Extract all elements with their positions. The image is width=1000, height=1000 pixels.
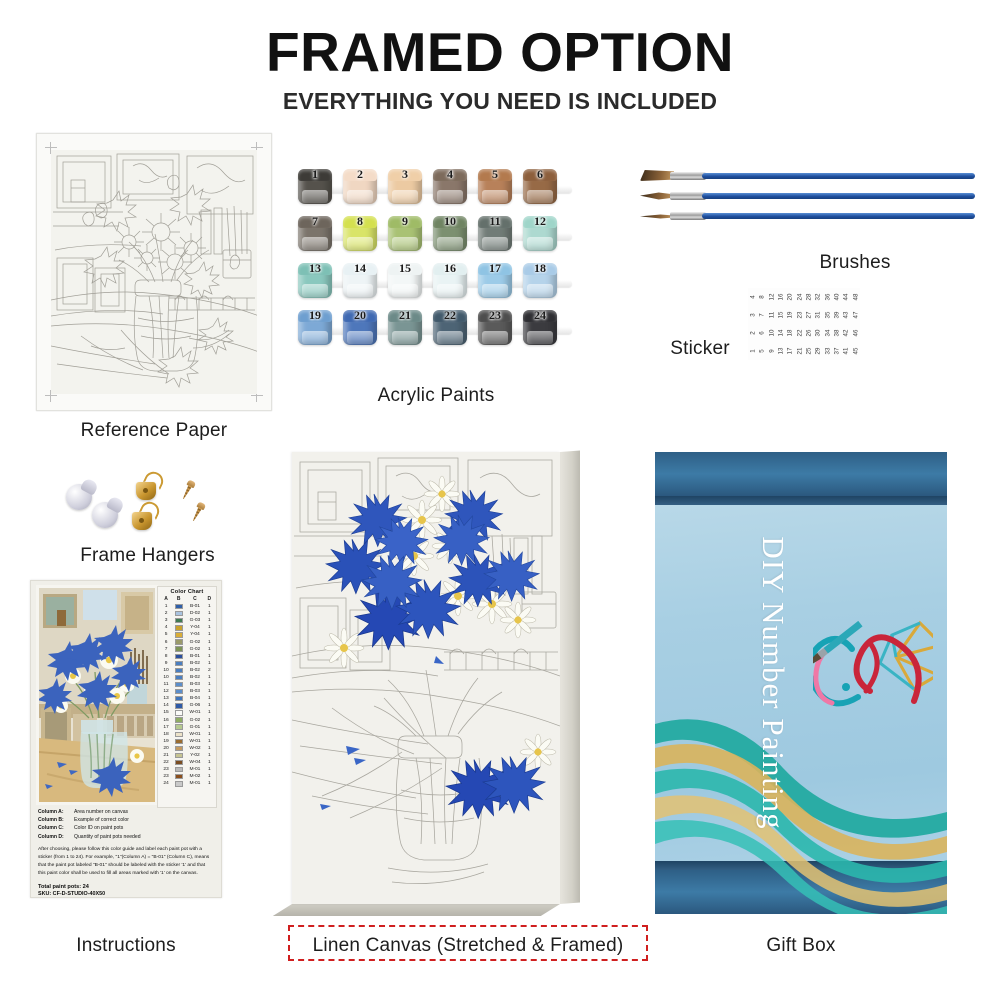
acrylic-paints-group: 123456789101112131415161718192021222324: [296, 166, 576, 356]
color-chart-row: 7G-021: [160, 646, 214, 653]
paint-pot-number: 6: [521, 167, 559, 182]
paint-pot-number: 18: [521, 261, 559, 276]
color-chart-area-number: 20: [160, 746, 172, 751]
legend-row: Column A:Area number on canvas: [38, 808, 214, 816]
caption-instructions: Instructions: [30, 935, 222, 957]
color-chart-swatch: [172, 668, 185, 673]
paint-pot[interactable]: 14: [341, 260, 379, 300]
color-chart-quantity: 1: [205, 753, 214, 758]
caption-acrylic-paints: Acrylic Paints: [296, 385, 576, 407]
legend-value: Quantity of paint pots needed: [74, 833, 214, 841]
color-chart-quantity: 1: [205, 689, 214, 694]
brush-ferrule: [670, 212, 706, 220]
brush-tip-icon: [640, 170, 674, 181]
color-chart-header: A B C D: [160, 595, 214, 603]
paint-pot[interactable]: 15: [386, 260, 424, 300]
color-chart-area-number: 23: [160, 767, 172, 772]
caption-brushes: Brushes: [760, 252, 950, 274]
color-chart-area-number: 19: [160, 739, 172, 744]
linen-canvas: [292, 452, 582, 914]
color-chart-area-number: 9: [160, 661, 172, 666]
sticker-number: 45: [846, 346, 864, 355]
canvas-artwork-svg: [292, 452, 560, 904]
paint-pot[interactable]: 9: [386, 213, 424, 253]
color-chart-color-id: G-02: [185, 640, 205, 645]
color-chart-row: 10B-022: [160, 667, 214, 674]
color-chart-swatch: [172, 675, 185, 680]
color-chart-row: 23M-011: [160, 766, 214, 773]
color-chart-quantity: 1: [205, 718, 214, 723]
paint-pot-number: 22: [431, 308, 469, 323]
color-chart-color-id: G-03: [185, 618, 205, 623]
paint-pot[interactable]: 19: [296, 307, 334, 347]
color-chart-quantity: 1: [205, 640, 214, 645]
color-chart-quantity: 1: [205, 682, 214, 687]
caption-sticker: Sticker: [650, 338, 750, 360]
color-chart-swatch: [172, 717, 185, 722]
paint-pot-row: 789101112: [296, 213, 576, 257]
color-chart-row: 15W-011: [160, 709, 214, 716]
color-chart-color-id: M-02: [185, 774, 205, 779]
total-paint-pots: Total paint pots: 24: [38, 884, 214, 890]
color-chart-swatch: [172, 646, 185, 651]
color-chart-area-number: 12: [160, 689, 172, 694]
color-chart-row: 6G-021: [160, 638, 214, 645]
color-chart-color-id: Y-04: [185, 632, 205, 637]
color-chart-swatch: [172, 746, 185, 751]
paint-pot[interactable]: 6: [521, 166, 559, 206]
color-chart-quantity: 1: [205, 675, 214, 680]
color-chart-area-number: 7: [160, 647, 172, 652]
color-chart-color-id: W-01: [185, 739, 205, 744]
paint-pot-number: 12: [521, 214, 559, 229]
col-head-b: B: [172, 596, 185, 602]
color-chart-quantity: 1: [205, 760, 214, 765]
color-chart-quantity: 1: [205, 611, 214, 616]
color-chart-color-id: Y-04: [185, 625, 205, 630]
color-chart-swatch: [172, 654, 185, 659]
color-chart-row: 22W-041: [160, 759, 214, 766]
paint-pot[interactable]: 4: [431, 166, 469, 206]
paint-pot[interactable]: 20: [341, 307, 379, 347]
legend-row: Column C:Color ID on paint pots: [38, 824, 214, 832]
color-chart-quantity: 1: [205, 732, 214, 737]
color-chart-color-id: G-06: [185, 703, 205, 708]
paint-pot[interactable]: 8: [341, 213, 379, 253]
brush-tip-icon: [640, 192, 674, 200]
color-chart-area-number: 10: [160, 668, 172, 673]
paint-pot-number: 4: [431, 167, 469, 182]
paint-pot[interactable]: 7: [296, 213, 334, 253]
legend-value: Example of correct color: [74, 816, 214, 824]
color-chart-quantity: 1: [205, 703, 214, 708]
color-chart-swatch: [172, 632, 185, 637]
color-chart-row: 4Y-041: [160, 624, 214, 631]
col-head-c: C: [185, 596, 205, 602]
color-chart-row: 16G-021: [160, 717, 214, 724]
instructions-sheet: Color Chart A B C D 1B-0112D-0213G-0314Y…: [30, 580, 222, 898]
color-chart-area-number: 21: [160, 753, 172, 758]
sticker-number: 48: [846, 292, 864, 301]
color-chart-row: 13B-041: [160, 695, 214, 702]
caption-frame-hangers: Frame Hangers: [40, 545, 255, 567]
color-chart-row: 18W-011: [160, 731, 214, 738]
paint-pot-number: 21: [386, 308, 424, 323]
legend-value: Area number on canvas: [74, 808, 214, 816]
color-chart-area-number: 5: [160, 632, 172, 637]
color-chart-color-id: B-03: [185, 682, 205, 687]
paint-pot[interactable]: 21: [386, 307, 424, 347]
color-chart-swatch: [172, 703, 185, 708]
color-chart-swatch: [172, 724, 185, 729]
color-chart-row: 12B-031: [160, 688, 214, 695]
color-chart-quantity: 1: [205, 618, 214, 623]
color-chart-color-id: B-04: [185, 696, 205, 701]
paint-pot-number: 3: [386, 167, 424, 182]
color-chart-body: 1B-0112D-0213G-0314Y-0415Y-0416G-0217G-0…: [160, 603, 214, 787]
color-chart-area-number: 11: [160, 682, 172, 687]
color-chart-swatch: [172, 732, 185, 737]
brush-ferrule: [670, 172, 706, 180]
color-chart-color-id: W-04: [185, 760, 205, 765]
caption-linen-canvas: Linen Canvas (Stretched & Framed): [288, 935, 648, 957]
paint-pot-number: 13: [296, 261, 334, 276]
color-chart-quantity: 1: [205, 661, 214, 666]
sticker-number: 46: [846, 328, 864, 337]
color-chart-area-number: 2: [160, 611, 172, 616]
brush-handle: [702, 213, 975, 219]
paint-pot[interactable]: 10: [431, 213, 469, 253]
color-chart-swatch: [172, 618, 185, 623]
paint-pot-number: 15: [386, 261, 424, 276]
brush-flat: [640, 168, 975, 184]
paint-pot[interactable]: 16: [431, 260, 469, 300]
paint-pot-number: 5: [476, 167, 514, 182]
color-chart-area-number: 16: [160, 718, 172, 723]
caption-gift-box: Gift Box: [655, 935, 947, 957]
color-chart: Color Chart A B C D 1B-0112D-0213G-0314Y…: [157, 586, 217, 808]
color-chart-quantity: 1: [205, 767, 214, 772]
color-chart-color-id: G-02: [185, 718, 205, 723]
color-chart-row: 2D-021: [160, 610, 214, 617]
paint-pot-number: 7: [296, 214, 334, 229]
color-chart-row: 19W-011: [160, 738, 214, 745]
color-chart-color-id: B-02: [185, 675, 205, 680]
color-chart-swatch: [172, 611, 185, 616]
color-chart-area-number: 13: [160, 696, 172, 701]
color-chart-row: 9B-021: [160, 660, 214, 667]
color-chart-area-number: 23: [160, 774, 172, 779]
color-chart-row: 20W-021: [160, 745, 214, 752]
color-chart-swatch: [172, 753, 185, 758]
color-chart-quantity: 1: [205, 632, 214, 637]
frame-hangers-group: [62, 468, 232, 540]
color-chart-quantity: 1: [205, 647, 214, 652]
brush-liner: [640, 208, 975, 224]
color-chart-area-number: 22: [160, 760, 172, 765]
paint-pot-number: 24: [521, 308, 559, 323]
paint-pot[interactable]: 11: [476, 213, 514, 253]
brush-round: [640, 188, 975, 204]
color-chart-color-id: B-03: [185, 689, 205, 694]
color-chart-row: 21Y-021: [160, 752, 214, 759]
gift-box: DIY Number Painting: [655, 452, 947, 914]
legend-key: Column B:: [38, 816, 74, 824]
sku-label: SKU: CF-D-STUDIO-40X50: [38, 891, 214, 897]
color-chart-color-id: B-01: [185, 604, 205, 609]
brush-handle: [702, 193, 975, 199]
color-chart-quantity: 1: [205, 604, 214, 609]
brush-tip-icon: [640, 213, 674, 220]
paint-pot-row: 123456: [296, 166, 576, 210]
reference-paper: [36, 133, 272, 411]
color-chart-swatch: [172, 682, 185, 687]
color-chart-color-id: M-01: [185, 767, 205, 772]
framed-option-infographic: FRAMED OPTION EVERYTHING YOU NEED IS INC…: [0, 0, 1000, 1000]
color-chart-swatch: [172, 689, 185, 694]
canvas-bottom-edge: [273, 904, 560, 916]
paint-pot-row: 131415161718: [296, 260, 576, 304]
color-chart-area-number: 4: [160, 625, 172, 630]
canvas-side-edge: [560, 451, 580, 904]
color-chart-swatch: [172, 639, 185, 644]
color-chart-quantity: 2: [205, 668, 214, 673]
color-chart-area-number: 17: [160, 725, 172, 730]
legend-key: Column A:: [38, 808, 74, 816]
color-chart-area-number: 18: [160, 732, 172, 737]
color-chart-area-number: 24: [160, 781, 172, 786]
color-chart-area-number: 15: [160, 710, 172, 715]
color-chart-area-number: 14: [160, 703, 172, 708]
color-chart-quantity: 1: [205, 696, 214, 701]
brush-handle: [702, 173, 975, 179]
color-chart-quantity: 1: [205, 774, 214, 779]
instructions-paragraph: After choosing, please follow this color…: [38, 846, 214, 879]
sticker-sheet: 4812162024283236404448371115192327313539…: [748, 288, 860, 360]
canvas-face: [292, 452, 560, 904]
reference-line-art: [51, 150, 257, 394]
color-chart-row: 8B-011: [160, 653, 214, 660]
color-chart-color-id: B-02: [185, 661, 205, 666]
sticker-number: 47: [846, 310, 864, 319]
caption-reference-paper: Reference Paper: [36, 420, 272, 442]
col-head-a: A: [160, 596, 172, 602]
color-chart-swatch: [172, 661, 185, 666]
paint-pot-number: 2: [341, 167, 379, 182]
gift-box-front: DIY Number Painting: [655, 452, 947, 914]
paint-pot[interactable]: 23: [476, 307, 514, 347]
color-chart-row: 23M-021: [160, 773, 214, 780]
legend-row: Column D:Quantity of paint pots needed: [38, 833, 214, 841]
color-chart-quantity: 1: [205, 746, 214, 751]
instructions-text: Column A:Area number on canvasColumn B:E…: [31, 805, 221, 897]
paint-pot-number: 10: [431, 214, 469, 229]
color-chart-color-id: Y-02: [185, 753, 205, 758]
paint-pot-number: 11: [476, 214, 514, 229]
paint-pot-row: 192021222324: [296, 307, 576, 351]
paint-pot[interactable]: 5: [476, 166, 514, 206]
color-chart-quantity: 1: [205, 625, 214, 630]
color-chart-quantity: 1: [205, 710, 214, 715]
page-subtitle: EVERYTHING YOU NEED IS INCLUDED: [0, 88, 1000, 115]
color-chart-swatch: [172, 767, 185, 772]
paint-pot-number: 20: [341, 308, 379, 323]
paint-pot[interactable]: 1: [296, 166, 334, 206]
color-chart-color-id: W-02: [185, 746, 205, 751]
color-chart-color-id: M-01: [185, 781, 205, 786]
color-chart-area-number: 8: [160, 654, 172, 659]
wall-hook-icon: [92, 498, 122, 528]
color-chart-quantity: 1: [205, 654, 214, 659]
paint-pot-number: 1: [296, 167, 334, 182]
color-chart-row: 10B-021: [160, 674, 214, 681]
color-chart-color-id: G-02: [185, 647, 205, 652]
lineart-svg: [51, 150, 257, 394]
color-chart-swatch: [172, 774, 185, 779]
paint-pot[interactable]: 2: [341, 166, 379, 206]
paint-pot[interactable]: 24: [521, 307, 559, 347]
color-chart-color-id: W-01: [185, 732, 205, 737]
color-chart-row: 1B-011: [160, 603, 214, 610]
d-ring-hanger-icon: [132, 504, 162, 530]
column-legend: Column A:Area number on canvasColumn B:E…: [38, 808, 214, 841]
color-chart-row: 5Y-041: [160, 631, 214, 638]
paint-pot[interactable]: 22: [431, 307, 469, 347]
legend-value: Color ID on paint pots: [74, 824, 214, 832]
color-chart-quantity: 1: [205, 725, 214, 730]
color-chart-color-id: W-01: [185, 710, 205, 715]
color-chart-color-id: B-02: [185, 668, 205, 673]
color-chart-swatch: [172, 710, 185, 715]
paint-pot[interactable]: 13: [296, 260, 334, 300]
color-chart-swatch: [172, 781, 185, 786]
page-title: FRAMED OPTION: [0, 24, 1000, 82]
color-chart-area-number: 3: [160, 618, 172, 623]
paint-pot-number: 9: [386, 214, 424, 229]
d-ring-hanger-icon: [136, 474, 166, 500]
color-chart-area-number: 10: [160, 675, 172, 680]
color-chart-row: 24M-011: [160, 780, 214, 787]
color-chart-row: 14G-061: [160, 702, 214, 709]
color-chart-color-id: G-01: [185, 725, 205, 730]
color-chart-swatch: [172, 604, 185, 609]
color-chart-swatch: [172, 739, 185, 744]
paint-pot-number: 14: [341, 261, 379, 276]
color-chart-swatch: [172, 696, 185, 701]
col-head-d: D: [205, 596, 214, 602]
legend-key: Column D:: [38, 833, 74, 841]
color-chart-color-id: D-02: [185, 611, 205, 616]
paint-pot-number: 16: [431, 261, 469, 276]
color-chart-swatch: [172, 760, 185, 765]
brush-ferrule: [670, 192, 706, 200]
color-chart-quantity: 1: [205, 739, 214, 744]
painting-thumb-svg: [39, 588, 155, 802]
brand-logo-icon: [813, 580, 933, 750]
color-chart-row: 11B-031: [160, 681, 214, 688]
color-chart-swatch: [172, 625, 185, 630]
paint-pot[interactable]: 18: [521, 260, 559, 300]
screw-icon: [180, 479, 196, 500]
color-chart-area-number: 1: [160, 604, 172, 609]
paint-pot-number: 23: [476, 308, 514, 323]
paint-pot[interactable]: 17: [476, 260, 514, 300]
paint-pot[interactable]: 12: [521, 213, 559, 253]
screw-icon: [190, 501, 206, 522]
legend-key: Column C:: [38, 824, 74, 832]
legend-row: Column B:Example of correct color: [38, 816, 214, 824]
color-chart-row: 17G-011: [160, 724, 214, 731]
instructions-painting-thumbnail: [36, 585, 158, 805]
paint-pot-number: 19: [296, 308, 334, 323]
color-chart-color-id: B-01: [185, 654, 205, 659]
color-chart-area-number: 6: [160, 640, 172, 645]
gift-box-title: DIY Number Painting: [755, 536, 791, 829]
brushes-group: [640, 168, 980, 238]
paint-pot-number: 8: [341, 214, 379, 229]
color-chart-quantity: 1: [205, 781, 214, 786]
paint-pot-number: 17: [476, 261, 514, 276]
paint-pot[interactable]: 3: [386, 166, 424, 206]
color-chart-row: 3G-031: [160, 617, 214, 624]
